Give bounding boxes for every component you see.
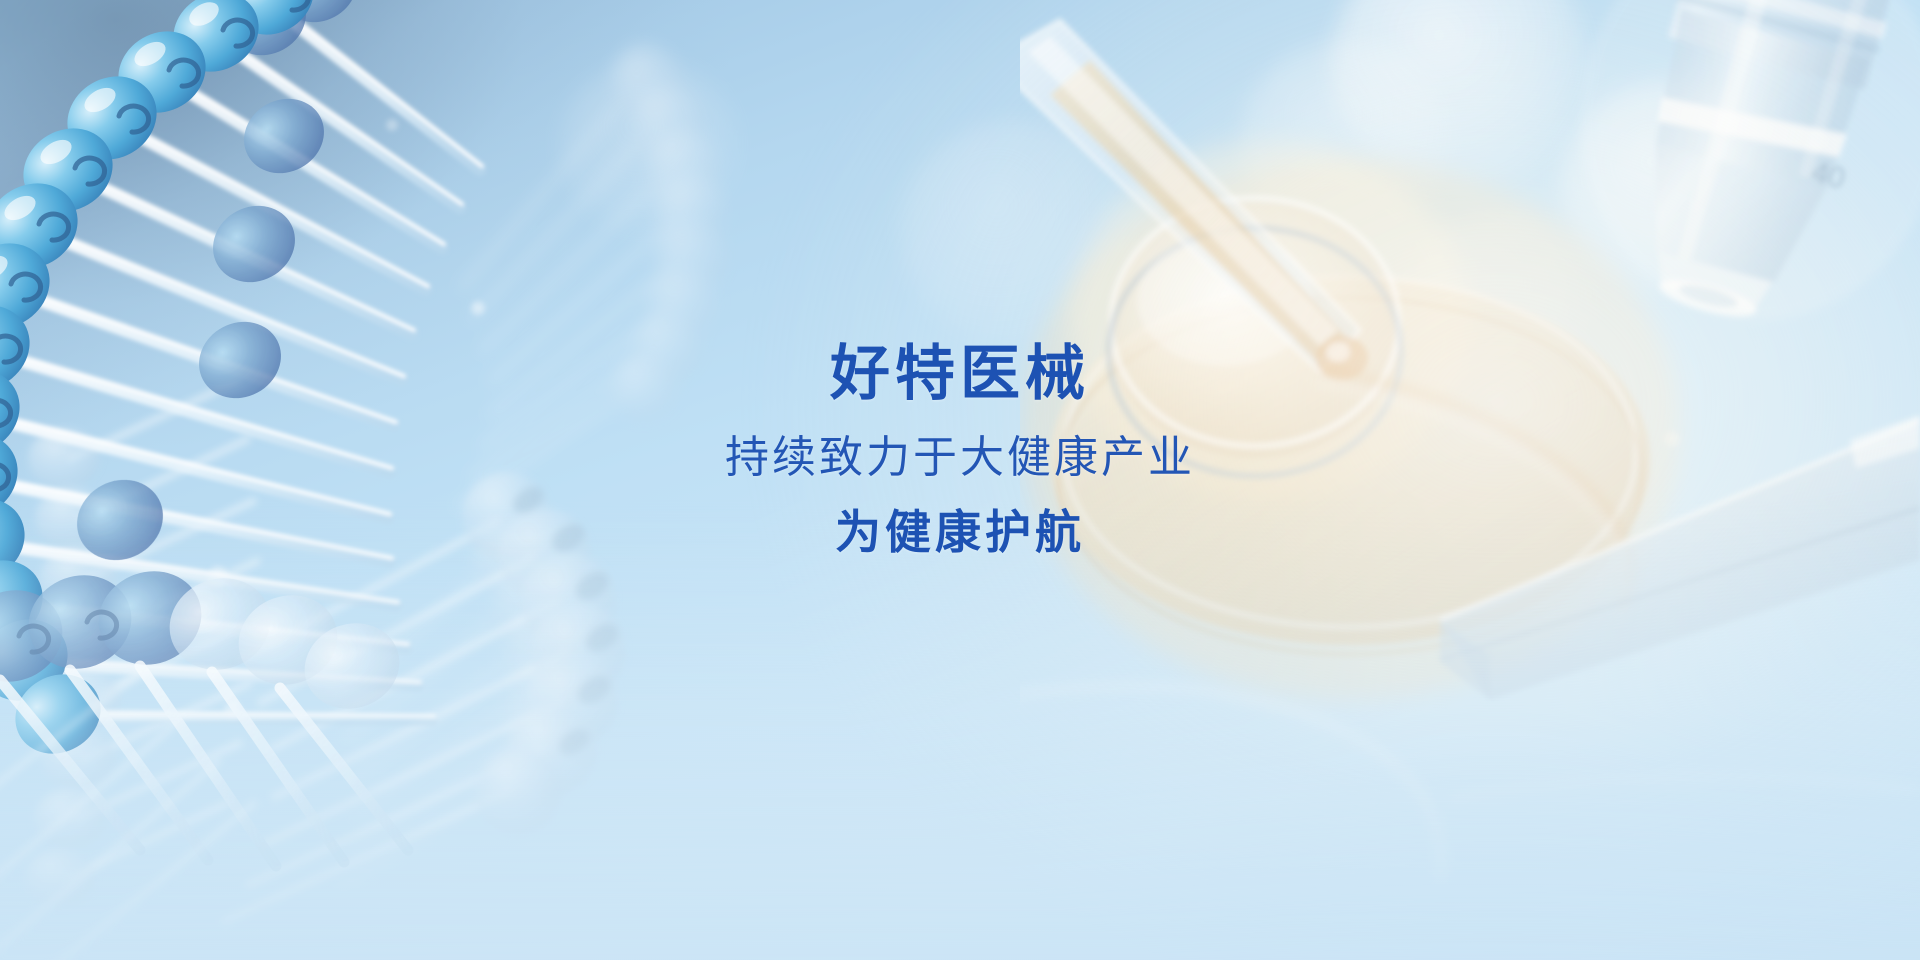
hero-banner: 40: [0, 0, 1920, 960]
background-bottom-fade: [0, 0, 1920, 960]
